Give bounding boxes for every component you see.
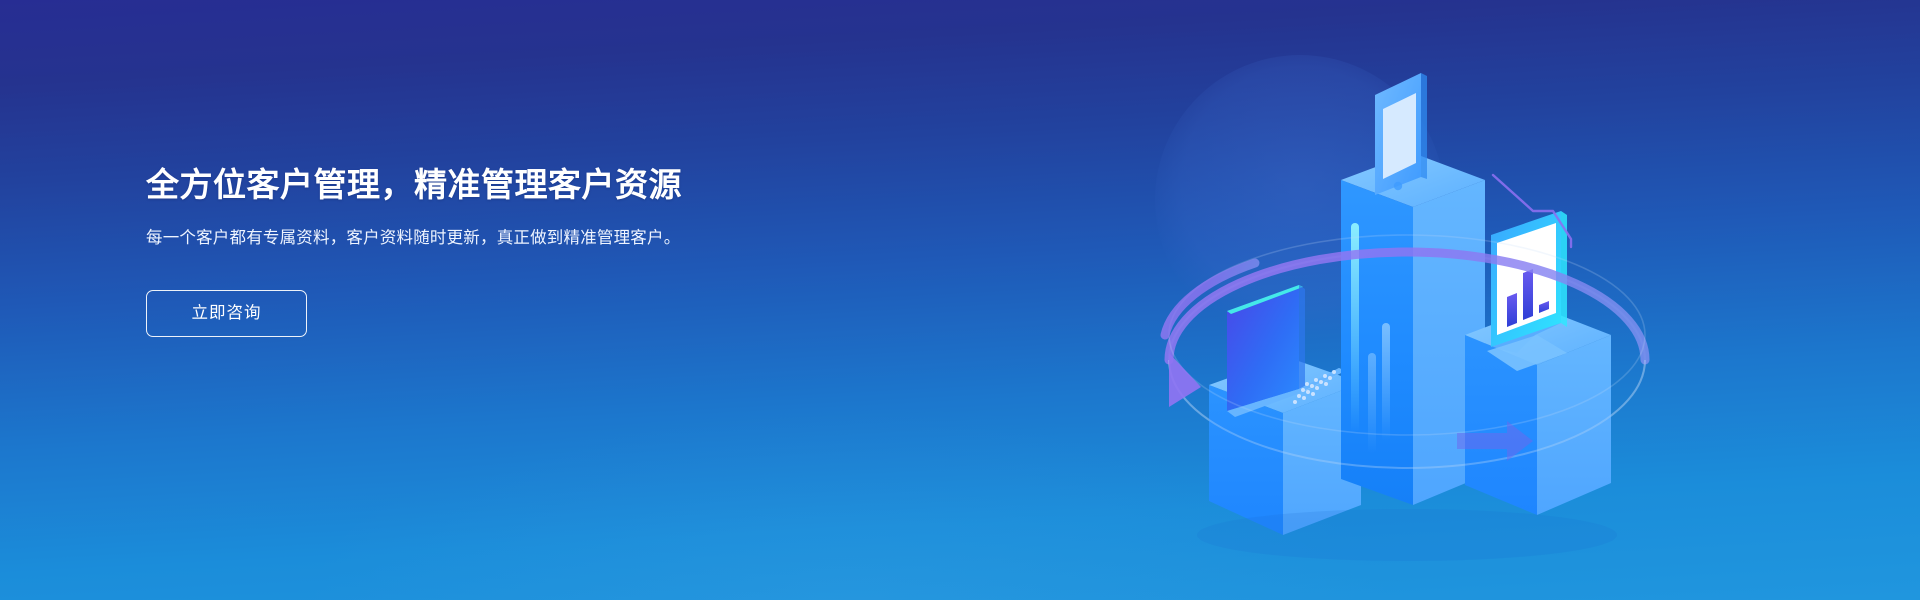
monitor-device	[1487, 211, 1567, 371]
banner-headline: 全方位客户管理，精准管理客户资源	[146, 163, 786, 207]
hero-banner: 全方位客户管理，精准管理客户资源 每一个客户都有专属资料，客户资料随时更新，真正…	[0, 0, 1920, 600]
left-pedestal	[1209, 285, 1361, 535]
banner-subline: 每一个客户都有专属资料，客户资料随时更新，真正做到精准管理客户。	[146, 225, 731, 252]
hero-illustration	[1135, 35, 1675, 575]
consult-now-button[interactable]: 立即咨询	[146, 290, 307, 337]
tablet-device	[1375, 73, 1427, 195]
banner-copy: 全方位客户管理，精准管理客户资源 每一个客户都有专属资料，客户资料随时更新，真正…	[146, 163, 786, 337]
